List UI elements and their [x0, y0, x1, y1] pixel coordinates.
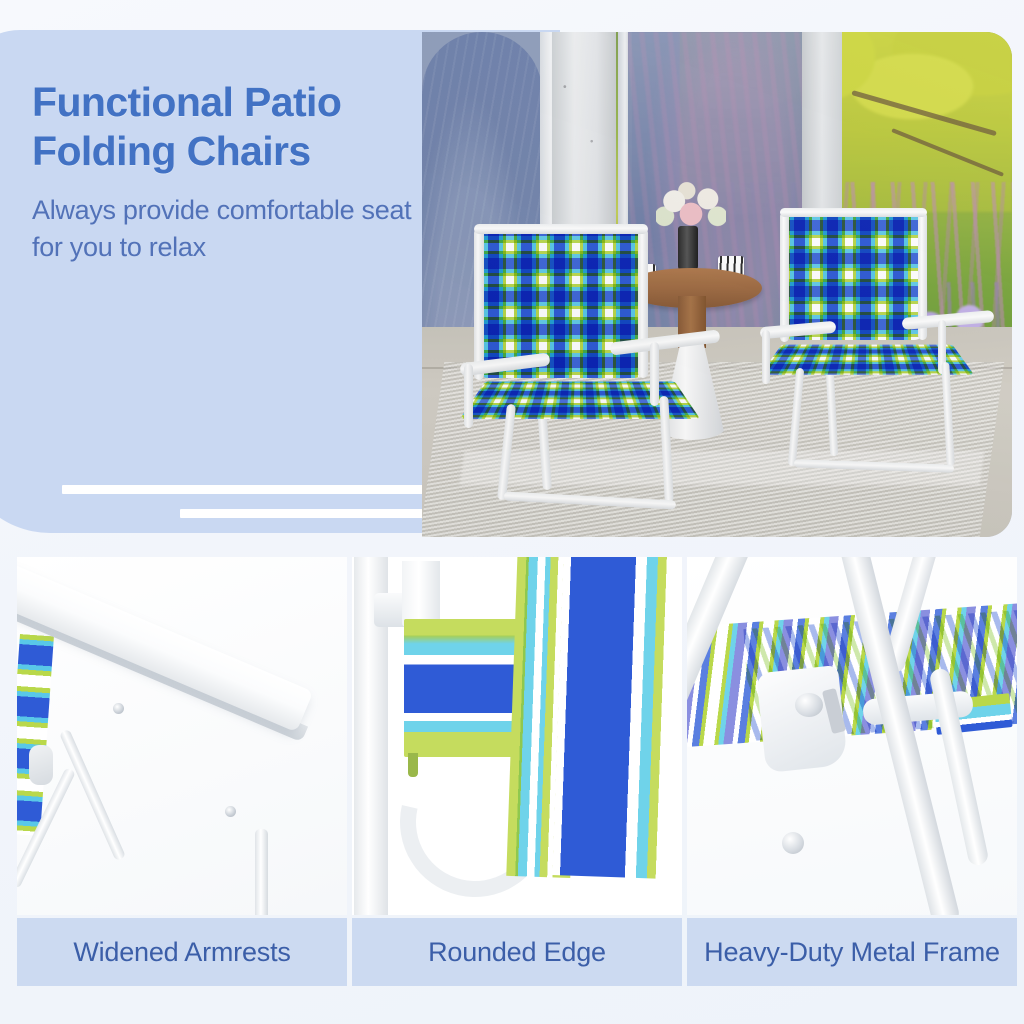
- frame-rivet-lower: [782, 832, 804, 854]
- chair-arm-post-left: [464, 364, 473, 428]
- frame-rivet-upper: [795, 693, 823, 717]
- chair-back-post-right: [638, 228, 648, 378]
- webbing-strap-tip: [408, 753, 418, 777]
- chair-back-post-left: [474, 228, 484, 380]
- hero-photo: [422, 32, 1012, 537]
- chair-foot-rail: [504, 492, 676, 510]
- chair-back-top-rail: [474, 224, 648, 234]
- folding-chair-left: [460, 228, 760, 528]
- frame-leg: [255, 829, 268, 915]
- feature-panel-rounded-edge: [352, 557, 682, 915]
- chair-arm-post-left: [762, 330, 770, 384]
- frame-hinge: [29, 745, 53, 785]
- chair-front-leg-left: [788, 368, 805, 466]
- frame-post: [402, 561, 440, 627]
- feature-caption-metal-frame: Heavy-Duty Metal Frame: [687, 918, 1017, 986]
- chair-foot-rail: [794, 459, 954, 473]
- folding-chair-right: [752, 212, 1012, 522]
- feature-panel-metal-frame: [687, 557, 1017, 915]
- caption-label: Widened Armrests: [73, 937, 290, 968]
- chair-back-webbing: [478, 228, 644, 378]
- chair-back-post-left: [780, 212, 789, 342]
- chair-back-leg: [826, 370, 838, 456]
- decorative-line-top: [62, 485, 482, 494]
- chair-back-top-rail: [780, 208, 927, 217]
- caption-label: Heavy-Duty Metal Frame: [704, 937, 1000, 968]
- webbing-strap-vertical-blue: [552, 557, 673, 879]
- chair-arm-post-right: [650, 342, 659, 406]
- feature-caption-armrests: Widened Armrests: [17, 918, 347, 986]
- product-infographic: Functional Patio Folding Chairs Always p…: [0, 0, 1024, 1024]
- feature-caption-rounded-edge: Rounded Edge: [352, 918, 682, 986]
- feature-panel-armrests: [17, 557, 347, 915]
- caption-label: Rounded Edge: [428, 937, 606, 968]
- page-title: Functional Patio Folding Chairs: [32, 78, 412, 176]
- hero-subtitle: Always provide comfortable seat for you …: [32, 192, 412, 266]
- webbing-strap-horizontal: [404, 619, 528, 757]
- hero-text-block: Functional Patio Folding Chairs Always p…: [32, 78, 412, 266]
- armrest-screw: [113, 703, 124, 714]
- armrest-screw: [225, 806, 236, 817]
- chair-front-leg-right: [941, 362, 954, 466]
